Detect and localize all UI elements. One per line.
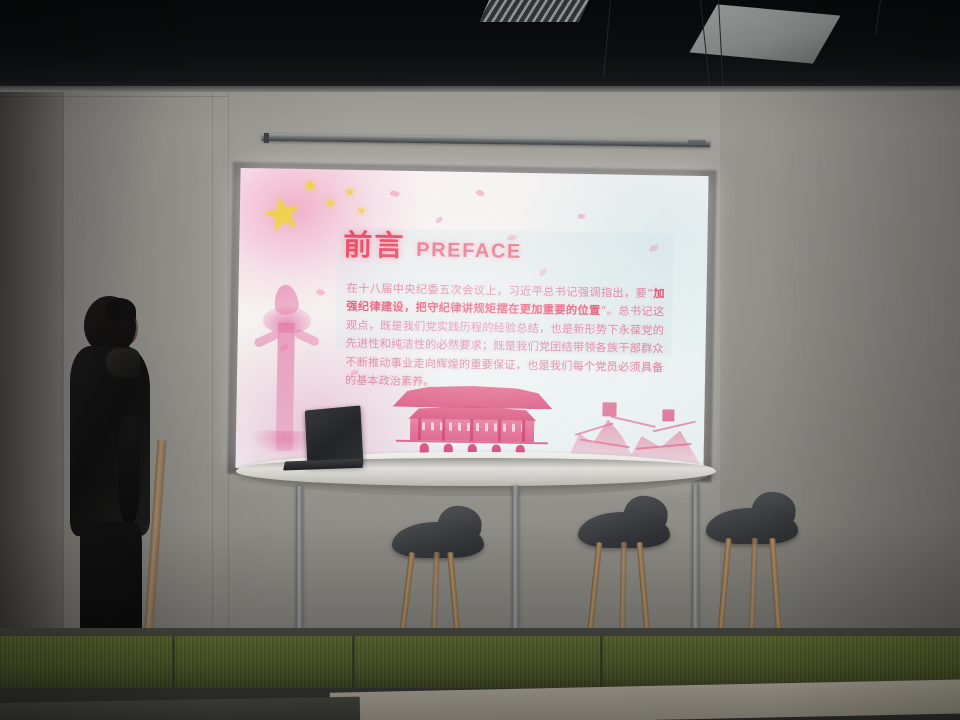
person-collar bbox=[106, 348, 140, 378]
person-hair bbox=[106, 298, 136, 322]
turf-seam bbox=[352, 636, 355, 688]
gate-column bbox=[498, 419, 501, 441]
petal-icon bbox=[475, 188, 485, 198]
air-vent-icon bbox=[479, 0, 591, 22]
wall-tower bbox=[662, 409, 674, 421]
laptop-screen[interactable] bbox=[305, 405, 364, 466]
ceiling-light-panel bbox=[689, 4, 840, 63]
screen-bracket bbox=[688, 140, 706, 144]
petal-icon bbox=[435, 217, 443, 224]
green-turf-carpet bbox=[0, 636, 960, 688]
monument-arm bbox=[253, 329, 280, 348]
wall-panel-seam bbox=[0, 96, 228, 97]
petal-icon bbox=[577, 213, 585, 220]
monument-arm bbox=[293, 328, 320, 347]
slide-body-part-1: 在十八届中央纪委五次会议上，习近平总书记强调指出，要“ bbox=[346, 282, 653, 300]
screen-bracket bbox=[264, 133, 269, 143]
gate-column bbox=[470, 419, 473, 441]
wall-panel-seam bbox=[212, 92, 213, 632]
gate-column bbox=[522, 420, 525, 442]
hanging-cable bbox=[603, 0, 611, 78]
wall-tower bbox=[602, 402, 616, 416]
wall-line bbox=[611, 416, 656, 428]
table-leg bbox=[296, 486, 303, 648]
slide-body-part-2: ”。总书记这观点，既是我们党实践历程的经验总结，也是新形势下永葆党的先进性和纯洁… bbox=[345, 305, 664, 389]
flag-star-icon: ★ bbox=[344, 185, 356, 198]
slide-body-text: 在十八届中央纪委五次会议上，习近平总书记强调指出，要“加强纪律建设，把守纪律讲规… bbox=[345, 280, 665, 396]
turf-seam bbox=[172, 636, 175, 688]
turf-seam bbox=[600, 636, 603, 688]
gate-column bbox=[418, 418, 421, 440]
flag-star-icon: ★ bbox=[354, 205, 367, 219]
hanging-cable bbox=[875, 0, 881, 36]
slide-heading-chinese: 前言 bbox=[343, 222, 406, 265]
gate-column bbox=[442, 418, 445, 440]
wall-shadow-left bbox=[0, 92, 64, 652]
flag-star-icon: ★ bbox=[258, 187, 307, 240]
table-leg bbox=[692, 484, 699, 642]
ceiling bbox=[0, 0, 960, 92]
flag-star-icon: ★ bbox=[322, 194, 338, 211]
wall-line bbox=[653, 421, 696, 433]
slide-heading-english: PREFACE bbox=[416, 239, 522, 264]
flag-star-icon: ★ bbox=[301, 176, 319, 195]
petal-icon bbox=[389, 189, 400, 198]
person-arm bbox=[118, 416, 140, 524]
room-photo-scene: ★ ★ ★ ★ ★ bbox=[0, 0, 960, 720]
slide-heading: 前言 PREFACE bbox=[343, 222, 522, 267]
